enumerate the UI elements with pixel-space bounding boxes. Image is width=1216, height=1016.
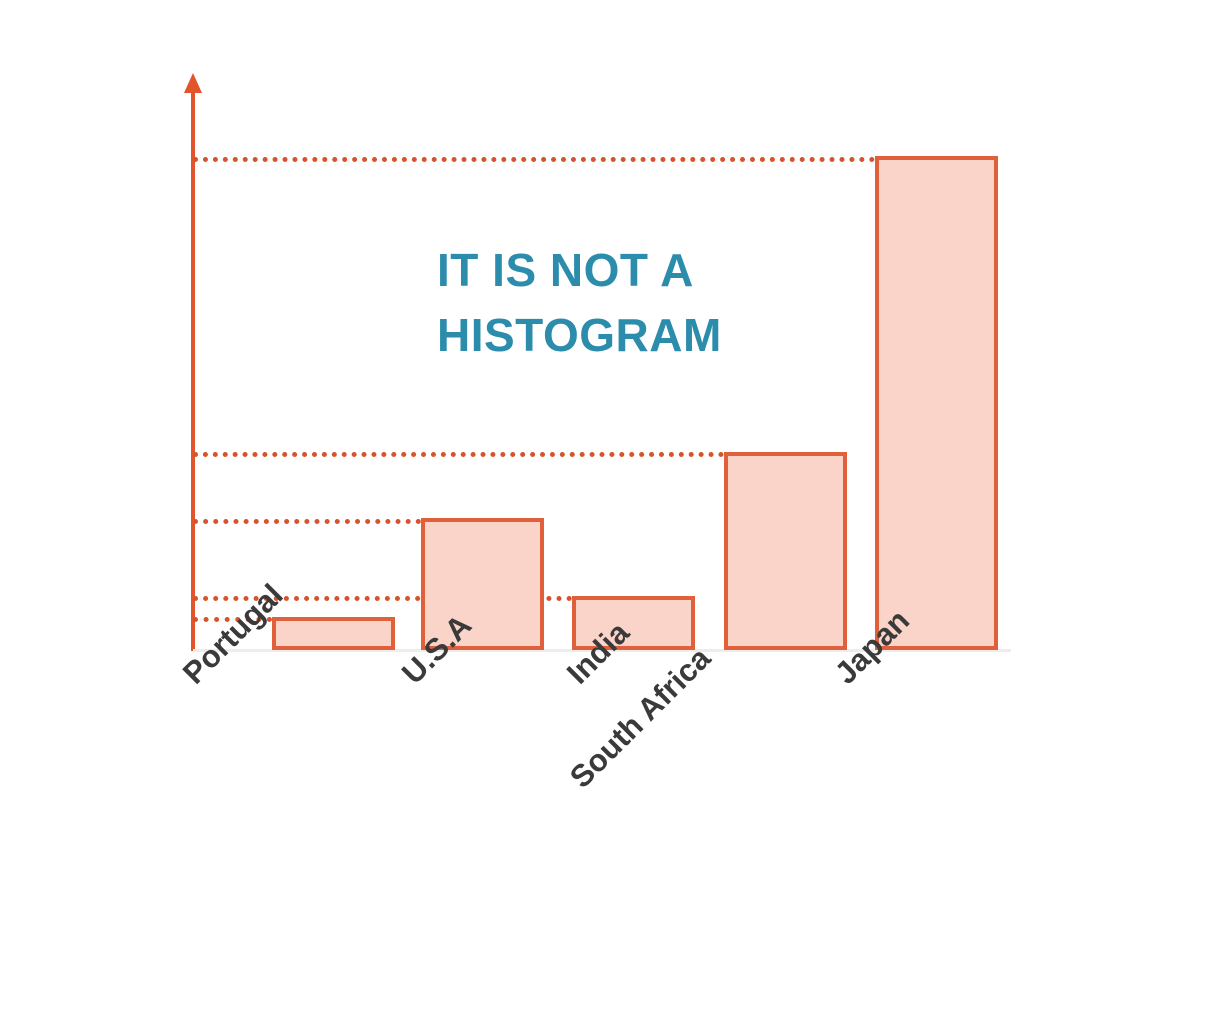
bar-japan: [875, 156, 998, 650]
bar-chart: PortugalU.S.AIndiaSouth AfricaJapan IT I…: [0, 0, 1216, 1016]
plot-area: PortugalU.S.AIndiaSouth AfricaJapan IT I…: [0, 0, 1216, 1016]
y-axis-line: [191, 88, 195, 651]
chart-title: IT IS NOT A HISTOGRAM: [437, 238, 917, 369]
bar-portugal: [272, 617, 395, 650]
gridline: [193, 519, 421, 524]
gridline: [193, 452, 724, 457]
gridline: [193, 157, 875, 162]
bar-south-africa: [724, 452, 847, 650]
